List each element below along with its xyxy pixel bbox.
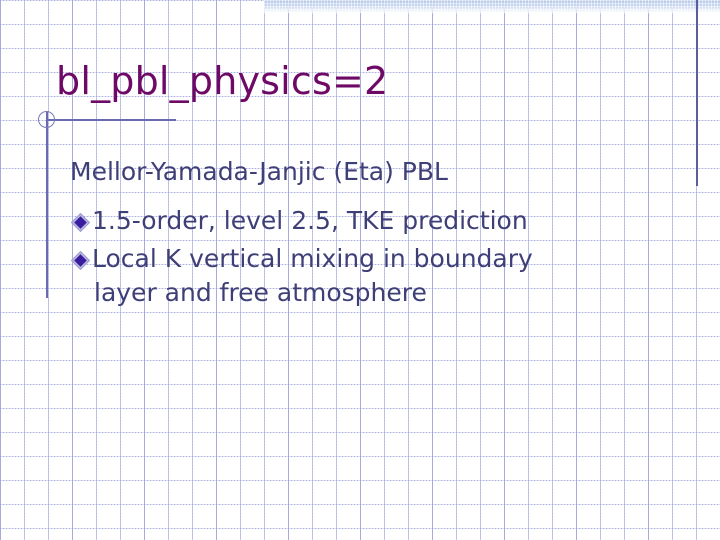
list-item: Local K vertical mixing in boundary laye… [70,242,660,310]
right-vertical-rule [696,0,698,186]
diamond-bullet-icon [70,242,92,274]
list-item-line-1: Local K vertical mixing in boundary [92,244,533,273]
title-underline-rule [46,119,176,121]
list-item-text: Local K vertical mixing in boundary laye… [92,242,660,310]
circle-motif-icon [38,111,55,128]
slide-canvas: bl_pbl_physics=2 Mellor-Yamada-Janjic (E… [0,0,720,540]
lead-line: Mellor-Yamada-Janjic (Eta) PBL [70,156,660,188]
list-item-text: 1.5-order, level 2.5, TKE prediction [92,204,660,238]
diamond-bullet-icon [70,204,92,236]
list-item-line-1: 1.5-order, level 2.5, TKE prediction [92,206,528,235]
top-decorative-band [264,0,720,13]
list-item-line-2: layer and free atmosphere [94,276,660,310]
list-item: 1.5-order, level 2.5, TKE prediction [70,204,660,238]
left-vertical-rule [46,112,48,298]
page-title: bl_pbl_physics=2 [56,58,388,104]
content-body: Mellor-Yamada-Janjic (Eta) PBL 1.5-order… [70,156,660,314]
